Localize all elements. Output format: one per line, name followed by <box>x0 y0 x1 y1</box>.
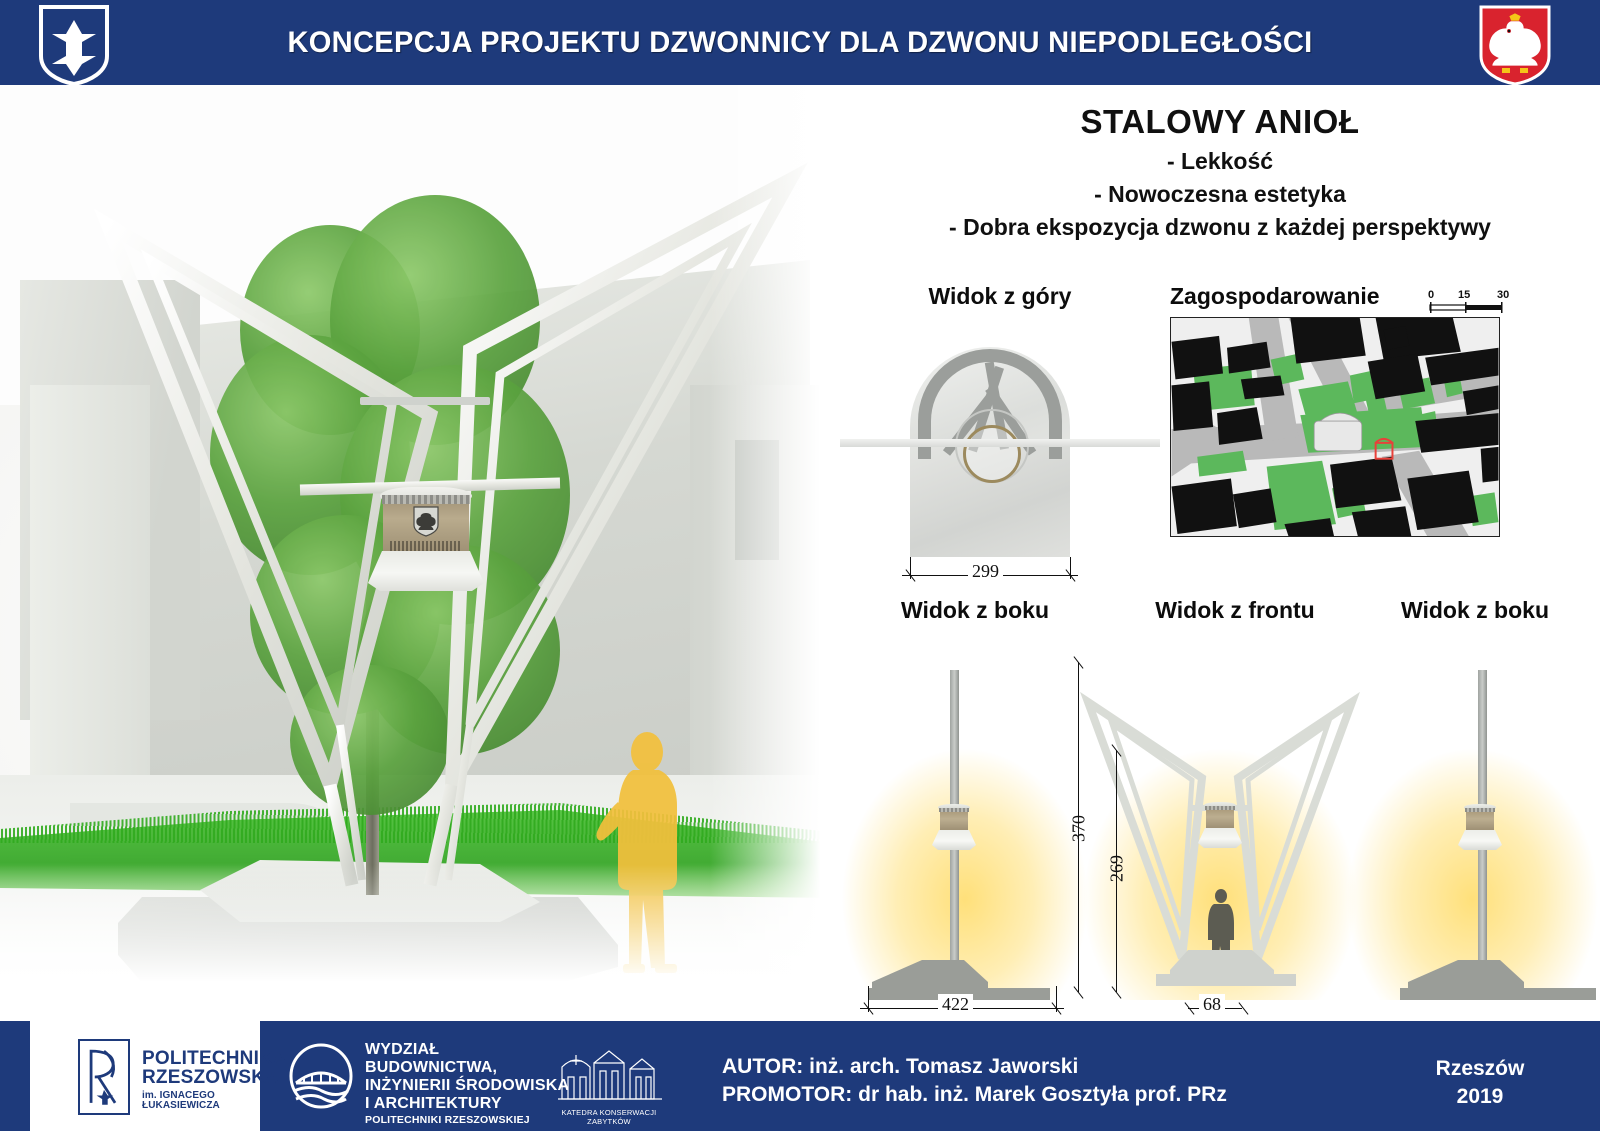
svg-text:0: 0 <box>1428 289 1434 301</box>
bell-skirt <box>932 830 976 850</box>
place-and-year: Rzeszów 2019 <box>1380 1055 1580 1112</box>
bell-yoke <box>360 397 490 405</box>
faculty-bridge-logo <box>288 1043 354 1109</box>
university-logo-panel: POLITECHNIKA RZESZOWSKA im. IGNACEGO ŁUK… <box>30 1021 260 1131</box>
concept-bullet: - Dobra ekspozycja dzwonu z każdej persp… <box>840 214 1600 241</box>
svg-text:15: 15 <box>1458 289 1470 301</box>
university-line-3: im. IGNACEGO ŁUKASIEWICZA <box>142 1091 292 1111</box>
page-title: KONCEPCJA PROJEKTU DZWONNICY DLA DZWONU … <box>170 0 1431 85</box>
human-scale-figure-silhouette <box>585 730 695 980</box>
bell-skirt <box>368 551 484 591</box>
front-view-label: Widok z frontu <box>1110 597 1360 624</box>
top-view-bell-ring <box>963 425 1021 483</box>
top-view-label: Widok z góry <box>870 283 1130 310</box>
elevation-drawings: 370 269 422 68 177 <box>840 630 1600 1015</box>
politechnika-rzeszowska-logo <box>78 1039 130 1115</box>
side-view-right-label: Widok z boku <box>1350 597 1600 624</box>
front-view-base <box>1140 950 1310 990</box>
supervisor-line: PROMOTOR: dr hab. inż. Marek Gosztyła pr… <box>722 1081 1362 1109</box>
university-line-1: POLITECHNIKA <box>142 1049 292 1068</box>
concept-name: STALOWY ANIOŁ <box>840 103 1600 141</box>
dim-value-top-width: 299 <box>968 561 1003 582</box>
bell-body <box>1206 808 1234 830</box>
side-view-right-base <box>1380 960 1600 1005</box>
bell-decorative-band <box>939 808 969 812</box>
svg-text:30: 30 <box>1497 289 1509 301</box>
bell-inscription <box>390 541 462 552</box>
independence-bell <box>350 395 500 625</box>
board-footer: POLITECHNIKA RZESZOWSKA im. IGNACEGO ŁUK… <box>0 1021 1600 1131</box>
city-label: Rzeszów <box>1380 1055 1580 1083</box>
department-line-1: KATEDRA KONSERWACJI <box>550 1108 668 1117</box>
bell-decorative-band <box>382 495 470 504</box>
side-view-left-bell <box>932 798 976 856</box>
top-view-drawing: 299 <box>860 317 1140 617</box>
bell-decorative-band <box>1465 808 1495 812</box>
side-view-right-bell <box>1458 798 1502 856</box>
university-line-2: RZESZOWSKA <box>142 1068 292 1087</box>
department-line-2: ZABYTKÓW <box>550 1117 668 1126</box>
main-perspective-render <box>0 85 840 1015</box>
concept-bullet: - Nowoczesna estetyka <box>840 181 1600 208</box>
department-logo-block: KATEDRA KONSERWACJI ZABYTKÓW <box>550 1043 668 1127</box>
presentation-board: KONCEPCJA PROJEKTU DZWONNICY DLA DZWONU … <box>0 0 1600 1131</box>
poland-eagle-coat-of-arms-icon <box>1478 4 1552 86</box>
university-name: POLITECHNIKA RZESZOWSKA im. IGNACEGO ŁUK… <box>142 1049 292 1111</box>
bell-decorative-band <box>1205 806 1235 810</box>
dim-value-mast-width: 68 <box>1199 994 1225 1015</box>
year-label: 2019 <box>1380 1083 1580 1111</box>
bell-skirt <box>1458 830 1502 850</box>
historic-building-illustration <box>550 1043 668 1101</box>
site-plan-map <box>1170 317 1500 537</box>
bell-body <box>1466 810 1494 832</box>
top-view-support-beam <box>840 439 1160 447</box>
dim-value-side-base-width: 422 <box>938 994 973 1015</box>
rzeszow-coat-of-arms-icon <box>38 4 110 86</box>
side-view-left-label: Widok z boku <box>850 597 1100 624</box>
bell-body <box>940 810 968 832</box>
board-header: KONCEPCJA PROJEKTU DZWONNICY DLA DZWONU … <box>0 0 1600 85</box>
concept-bullet: - Lekkość <box>840 148 1600 175</box>
dim-value-total-height: 370 <box>1069 804 1090 854</box>
author-line: AUTOR: inż. arch. Tomasz Jaworski <box>722 1053 1362 1081</box>
front-view-bell <box>1198 796 1242 854</box>
right-panel: STALOWY ANIOŁ - Lekkość - Nowoczesna est… <box>840 85 1600 1015</box>
dim-value-inner-height: 269 <box>1107 844 1128 894</box>
bell-skirt <box>1198 828 1242 848</box>
polish-eagle-emblem-icon <box>412 505 440 537</box>
map-scale-bar: 0 15 30 <box>1425 285 1520 319</box>
department-name: KATEDRA KONSERWACJI ZABYTKÓW <box>550 1108 668 1126</box>
author-credits: AUTOR: inż. arch. Tomasz Jaworski PROMOT… <box>722 1053 1362 1110</box>
